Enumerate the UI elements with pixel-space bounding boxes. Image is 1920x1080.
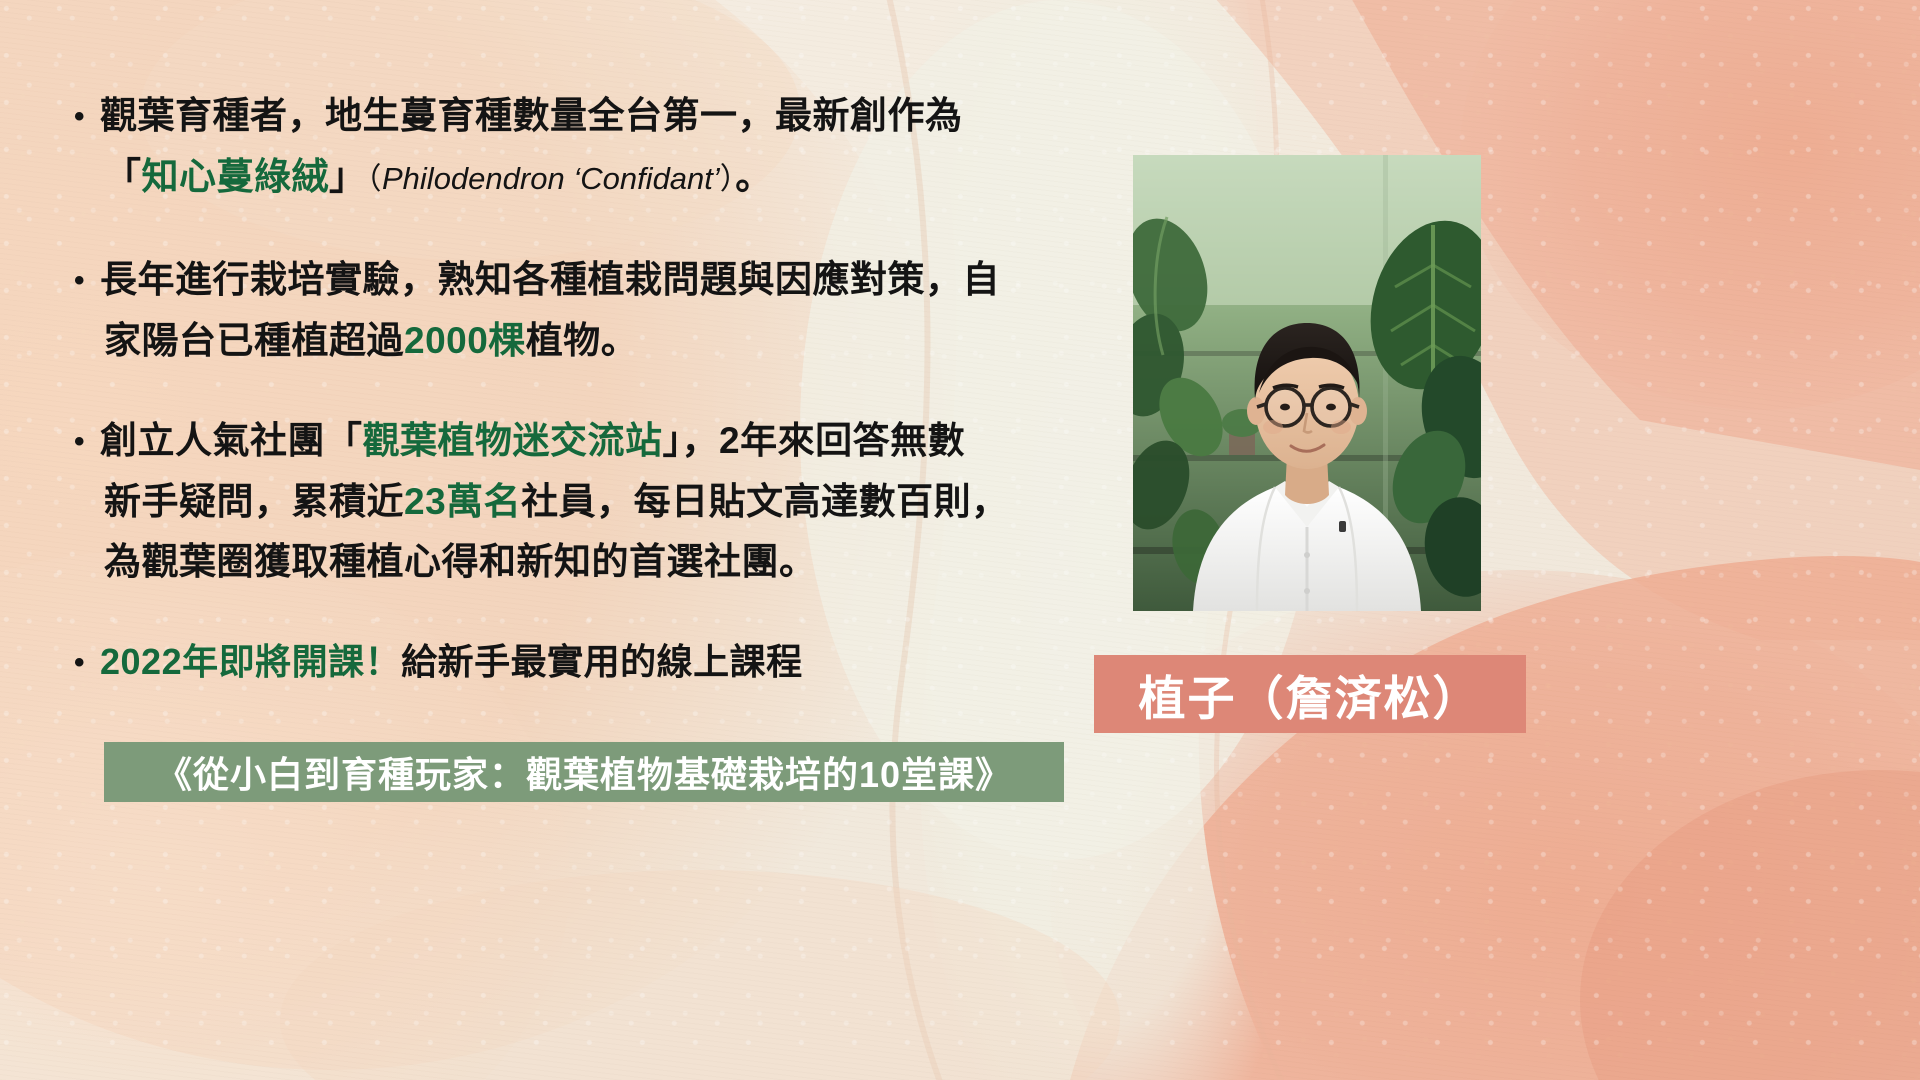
- bullet-line: 新手疑問，累積近23萬名社員，每日貼文高達數百則，: [74, 472, 1074, 532]
- bullet-breeder: 觀葉育種者，地生蔓育種數量全台第一，最新創作為 「知心蔓綠絨」（Philoden…: [74, 86, 1074, 210]
- bullet-dot-icon: [74, 86, 100, 147]
- bullet-dot-icon: [74, 250, 100, 311]
- bullet-line: 「知心蔓綠絨」（Philodendron ‘Confidant’）。: [74, 147, 1074, 210]
- bullet-dot-icon: [74, 632, 100, 693]
- course-title-banner: 《從小白到育種玩家：觀葉植物基礎栽培的10堂課》: [104, 742, 1064, 802]
- scientific-name: Philodendron ‘Confidant’: [382, 161, 720, 196]
- bullet-line: 家陽台已種植超過2000棵植物。: [74, 311, 1074, 371]
- highlight-group-name: 觀葉植物迷交流站: [363, 420, 663, 461]
- bullet-community: 創立人氣社團「觀葉植物迷交流站」，2年來回答無數 新手疑問，累積近23萬名社員，…: [74, 411, 1074, 592]
- bullet-line: 觀葉育種者，地生蔓育種數量全台第一，最新創作為: [74, 86, 1074, 147]
- speaker-name-plate: 植子（詹済松）: [1094, 655, 1526, 733]
- bullet-line: 創立人氣社團「觀葉植物迷交流站」，2年來回答無數: [74, 411, 1074, 472]
- highlight-species-name: 知心蔓綠絨: [142, 156, 330, 197]
- highlight-course-year: 2022年即將開課！: [100, 641, 401, 682]
- speaker-name-text: 植子（詹済松）: [1139, 660, 1482, 729]
- bullet-line: 2022年即將開課！給新手最實用的線上課程: [74, 632, 1074, 693]
- bullet-list: 觀葉育種者，地生蔓育種數量全台第一，最新創作為 「知心蔓綠絨」（Philoden…: [74, 86, 1074, 693]
- highlight-member-count: 23萬名: [404, 481, 521, 522]
- bullet-line: 長年進行栽培實驗，熟知各種植栽問題與因應對策，自: [74, 250, 1074, 311]
- portrait-photo-illustration: [1133, 155, 1481, 611]
- highlight-plant-count: 2000棵: [404, 320, 526, 361]
- bullet-cultivation: 長年進行栽培實驗，熟知各種植栽問題與因應對策，自 家陽台已種植超過2000棵植物…: [74, 250, 1074, 371]
- bullet-line: 為觀葉圈獲取種植心得和新知的首選社團。: [74, 532, 1074, 592]
- bullet-dot-icon: [74, 411, 100, 472]
- speaker-portrait: [1133, 155, 1481, 611]
- course-title-text: 《從小白到育種玩家：觀葉植物基礎栽培的10堂課》: [156, 746, 1012, 798]
- bullet-course: 2022年即將開課！給新手最實用的線上課程: [74, 632, 1074, 693]
